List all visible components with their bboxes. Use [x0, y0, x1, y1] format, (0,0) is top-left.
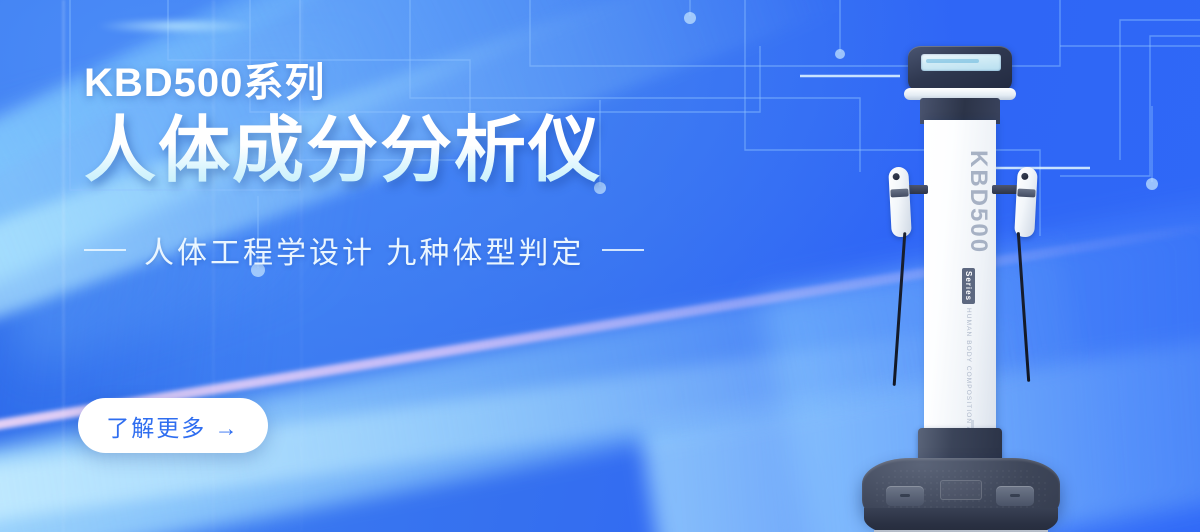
rule-left-icon: [84, 249, 126, 251]
device-hand-electrode-left: [888, 167, 912, 238]
subtitle-text: 人体工程学设计 九种体型判定: [144, 228, 584, 272]
device-cable-left: [893, 232, 906, 386]
device-cable-right: [1017, 232, 1030, 382]
device-foot-electrode-right: [996, 486, 1034, 506]
device-foot-electrode-left: [886, 486, 924, 506]
learn-more-button[interactable]: 了解更多 →: [78, 398, 268, 453]
product-hero-banner: KBD500系列 人体成分分析仪 人体工程学设计 九种体型判定 了解更多 → K…: [0, 0, 1200, 532]
device-brand-label: KBD500: [964, 150, 992, 254]
device-column: KBD500 Series HUMAN BODY COMPOSITION ANA…: [924, 120, 996, 434]
device-hand-electrode-right: [1014, 167, 1038, 238]
subtitle-row: 人体工程学设计 九种体型判定: [84, 228, 704, 272]
device-base-center-plate: [940, 480, 982, 500]
eyebrow-text: KBD500系列: [84, 62, 704, 105]
device-series-badge: Series: [962, 268, 975, 304]
device-screen: [921, 54, 1001, 71]
device-top-glow: [96, 18, 256, 34]
rule-right-icon: [602, 249, 644, 251]
device-arm-right: [992, 185, 1018, 194]
product-image-body-composition-analyzer: KBD500 Series HUMAN BODY COMPOSITION ANA…: [836, 46, 1160, 532]
device-base-side: [864, 508, 1058, 532]
hero-copy-block: KBD500系列 人体成分分析仪 人体工程学设计 九种体型判定: [84, 62, 704, 272]
page-title: 人体成分分析仪: [84, 111, 704, 192]
device-display-head: [908, 46, 1012, 92]
